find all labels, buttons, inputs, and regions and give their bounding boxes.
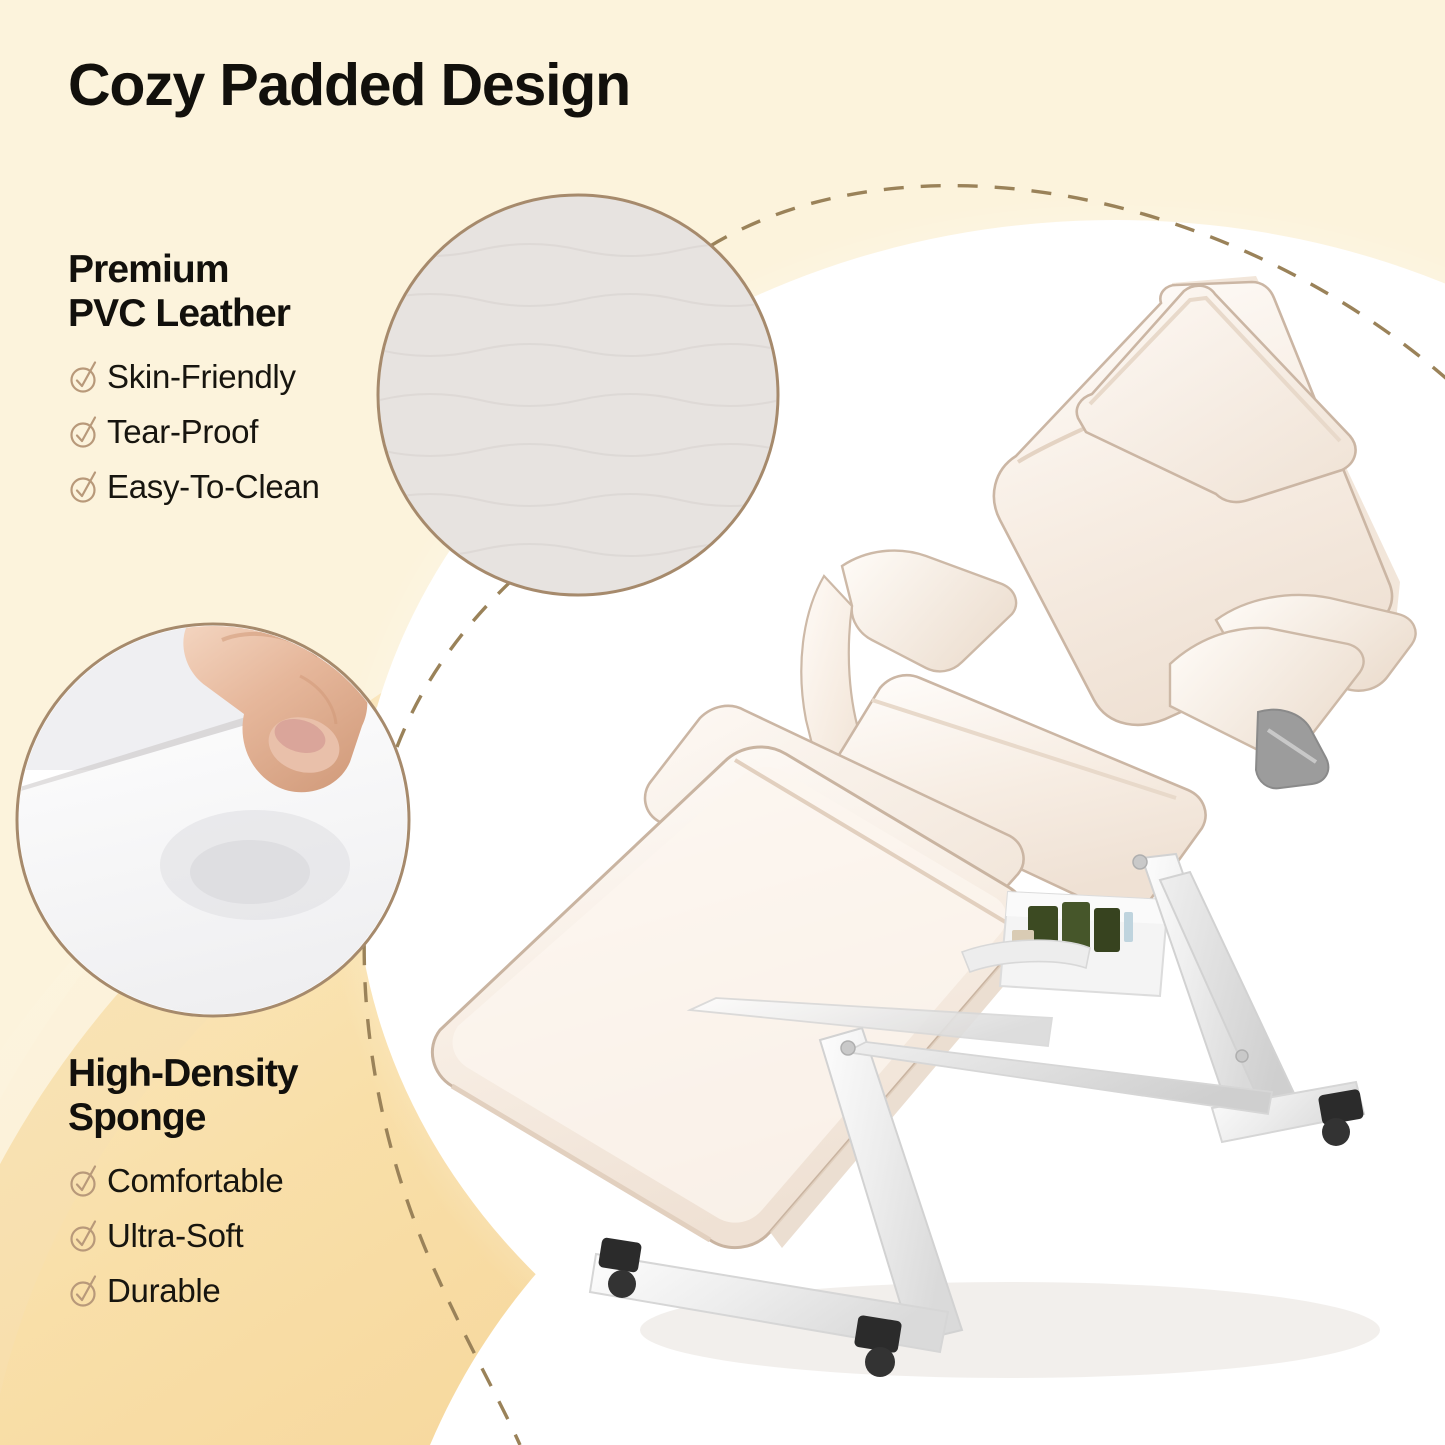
check-circle-icon <box>68 413 100 449</box>
feature-heading-sponge: High-Density Sponge <box>68 1052 298 1139</box>
page-title: Cozy Padded Design <box>68 55 630 117</box>
list-item: Tear-Proof <box>68 408 320 454</box>
feature-heading-pvc: Premium PVC Leather <box>68 248 320 335</box>
list-item: Ultra-Soft <box>68 1212 298 1258</box>
check-circle-icon <box>68 468 100 504</box>
check-circle-icon <box>68 1217 100 1253</box>
feature-list-sponge: Comfortable Ultra-Soft Durable <box>68 1157 298 1313</box>
feature-label: Comfortable <box>107 1164 283 1197</box>
list-item: Durable <box>68 1267 298 1313</box>
list-item: Easy-To-Clean <box>68 463 320 509</box>
feature-label: Durable <box>107 1274 220 1307</box>
feature-block-high-density-sponge: High-Density Sponge Comfortable Ultra-So… <box>68 1052 298 1322</box>
feature-label: Easy-To-Clean <box>107 470 320 503</box>
feature-label: Ultra-Soft <box>107 1219 243 1252</box>
check-circle-icon <box>68 1272 100 1308</box>
list-item: Skin-Friendly <box>68 353 320 399</box>
text-layer: Cozy Padded Design Premium PVC Leather S… <box>0 0 1445 1445</box>
feature-block-premium-pvc-leather: Premium PVC Leather Skin-Friendly Tear-P… <box>68 248 320 518</box>
feature-list-pvc: Skin-Friendly Tear-Proof Easy-To-Clean <box>68 353 320 509</box>
feature-label: Skin-Friendly <box>107 360 296 393</box>
check-circle-icon <box>68 1162 100 1198</box>
feature-label: Tear-Proof <box>107 415 258 448</box>
infographic-canvas: Cozy Padded Design Premium PVC Leather S… <box>0 0 1445 1445</box>
check-circle-icon <box>68 358 100 394</box>
list-item: Comfortable <box>68 1157 298 1203</box>
